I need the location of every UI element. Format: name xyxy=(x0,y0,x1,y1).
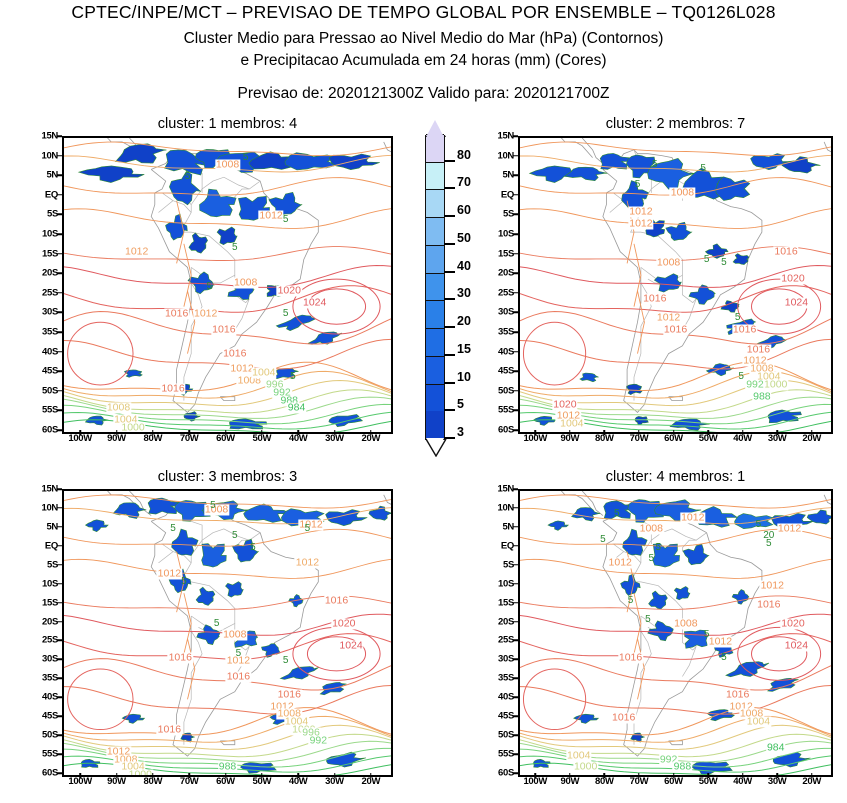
precip-value-label: 5 xyxy=(170,524,176,534)
x-tick-label: 30W xyxy=(768,776,787,787)
x-tick-label: 60W xyxy=(216,433,235,444)
x-tick-label: 100W xyxy=(523,776,547,787)
precipitation-contour-fill xyxy=(621,574,641,595)
coastline xyxy=(384,142,391,330)
y-tick-label: 30S xyxy=(498,654,514,665)
pressure-isobar xyxy=(520,708,831,735)
isobar-label: 1000 xyxy=(573,762,598,773)
precipitation-contour-fill xyxy=(782,157,821,174)
x-tick-label: 50W xyxy=(253,433,272,444)
colorbar-label: 80 xyxy=(457,148,471,162)
isobar-label: 1016 xyxy=(160,383,185,394)
isobar-label: 988 xyxy=(218,762,238,773)
x-tick-label: 80W xyxy=(595,776,614,787)
y-tick-label: 20S xyxy=(498,268,514,279)
isobar-label: 1012 xyxy=(298,520,323,531)
x-tick-label: 30W xyxy=(325,433,344,444)
panel-cluster-3: cluster: 3 membros: 3 100810121012101210… xyxy=(62,489,393,777)
colorbar-label: 5 xyxy=(457,397,464,411)
x-tick-label: 100W xyxy=(68,776,92,787)
country-border xyxy=(235,299,250,330)
isobar-label: 1008 xyxy=(656,258,681,269)
y-tick-label: 5N xyxy=(46,521,58,532)
pressure-isobar xyxy=(520,596,831,610)
y-tick-label: 45S xyxy=(498,366,514,377)
isobar-label: 1012 xyxy=(157,569,182,580)
pressure-isobar xyxy=(520,339,831,369)
colorbar-label: 10 xyxy=(457,370,471,384)
isobar-label: 984 xyxy=(287,403,307,414)
isobar-label: 1016 xyxy=(663,325,688,336)
precip-value-label: 5 xyxy=(628,596,634,606)
y-tick-label: 25S xyxy=(498,635,514,646)
isobar-label: 1016 xyxy=(226,671,251,682)
isobar-label: 1016 xyxy=(611,713,636,724)
colorbar-label: 30 xyxy=(457,286,471,300)
x-tick-label: 50W xyxy=(699,776,718,787)
colorbar-tick xyxy=(444,326,455,328)
precipitation-colorbar: 35101520304050607080 xyxy=(425,135,445,440)
isobar-label: 1008 xyxy=(670,187,695,198)
x-tick-label: 20W xyxy=(802,433,821,444)
colorbar-tick xyxy=(444,215,455,217)
precip-value-label: 5 xyxy=(181,577,187,587)
pressure-isobar xyxy=(64,529,391,546)
y-tick-label: 35S xyxy=(498,673,514,684)
pressure-isobar xyxy=(520,209,831,229)
coastline xyxy=(384,495,391,677)
precip-value-label: 5 xyxy=(207,282,213,292)
coastline xyxy=(582,138,603,164)
y-tick-label: 15N xyxy=(41,484,58,495)
precip-value-label: 5 xyxy=(283,656,289,666)
isobar-label: 1012 xyxy=(680,512,705,523)
y-tick-label: 55S xyxy=(42,749,58,760)
isobar-label: 1024 xyxy=(338,641,363,652)
plot-area-cluster-1: 1008101210121008102010241016101210161016… xyxy=(62,136,393,434)
isobar-label: 1008 xyxy=(639,523,664,534)
isobar-label: 1016 xyxy=(157,724,182,735)
y-tick-label: 60S xyxy=(42,425,58,436)
precip-value-label: 5 xyxy=(614,509,620,519)
precip-value-label: 5 xyxy=(721,653,727,663)
precipitation-contour-fill xyxy=(79,166,145,183)
y-tick-label: 10S xyxy=(498,229,514,240)
precip-value-label: 5 xyxy=(635,180,641,190)
y-tick-label: 5S xyxy=(503,209,514,220)
x-tick-label: 90W xyxy=(107,433,126,444)
colorbar-tick xyxy=(444,298,455,300)
x-tick-label: 60W xyxy=(664,776,683,787)
y-tick-label: 40S xyxy=(42,692,58,703)
coastline xyxy=(548,491,593,510)
pressure-isobar xyxy=(184,593,191,654)
x-tick-label: 40W xyxy=(733,776,752,787)
isobar-label: 984 xyxy=(766,743,786,754)
y-tick-label: 10N xyxy=(497,502,514,513)
precipitation-contour-fill xyxy=(548,521,568,531)
y-tick-label: 55S xyxy=(498,405,514,416)
x-tick-label: 90W xyxy=(107,776,126,787)
pressure-isobar xyxy=(64,559,391,578)
pressure-isobar xyxy=(64,371,391,398)
precipitation-contour-fill xyxy=(202,544,227,568)
precipitation-contour-fill xyxy=(721,301,739,313)
colorbar-label: 3 xyxy=(457,425,464,439)
precip-value-label: 5 xyxy=(214,619,220,629)
isobar-label: 1020 xyxy=(780,618,805,629)
x-tick-label: 40W xyxy=(289,776,308,787)
x-tick-label: 60W xyxy=(216,776,235,787)
precip-value-label: 5 xyxy=(649,554,655,564)
isobar-label: 1004 xyxy=(251,368,276,379)
y-tick-label: 50S xyxy=(42,730,58,741)
x-tick-label: 90W xyxy=(561,776,580,787)
y-tick-label: 20S xyxy=(498,616,514,627)
precipitation-contour-fill xyxy=(635,416,648,424)
y-tick-label: 15N xyxy=(41,131,58,142)
panel-title-cluster-1: cluster: 1 membros: 4 xyxy=(62,116,393,132)
precip-value-label: 5 xyxy=(652,160,658,170)
plot-area-cluster-2: 1008101210121008101610201024101610121016… xyxy=(518,136,833,434)
precip-value-label: 5 xyxy=(305,524,311,534)
precip-value-label: 5 xyxy=(232,243,238,253)
isobar-label: 1004 xyxy=(566,751,591,762)
y-tick-label: 15N xyxy=(497,131,514,142)
y-tick-label: 45S xyxy=(42,366,58,377)
country-border xyxy=(682,646,696,676)
precip-value-label: 5 xyxy=(721,258,727,268)
country-border xyxy=(159,544,174,563)
y-tick-label: 35S xyxy=(42,673,58,684)
x-tick-label: 100W xyxy=(523,433,547,444)
isobar-label: 1016 xyxy=(164,309,189,320)
x-tick-label: 30W xyxy=(325,776,344,787)
precipitation-contour-fill xyxy=(226,582,244,598)
colorbar-extend-low-outline xyxy=(425,438,447,457)
y-tick-label: 45S xyxy=(498,711,514,722)
precip-value-label: 5 xyxy=(236,649,242,659)
isobar-label: 1012 xyxy=(124,246,149,257)
forecast-run-line: Previsao de: 2020121300Z Valido para: 20… xyxy=(0,85,847,103)
y-tick-label: 5S xyxy=(47,559,58,570)
y-tick-label: 15S xyxy=(42,248,58,259)
isobar-label: 1008 xyxy=(106,403,131,414)
pressure-isobar xyxy=(520,142,831,156)
colorbar-cell xyxy=(426,300,444,328)
precip-value-label: 5 xyxy=(766,539,772,549)
colorbar-cell xyxy=(426,273,444,301)
x-tick-label: 40W xyxy=(733,433,752,444)
colorbar-tick xyxy=(444,160,455,162)
plot-area-cluster-4: 1012100810121012101210081016102010241016… xyxy=(518,489,833,777)
y-tick-label: 10N xyxy=(41,502,58,513)
precipitation-contour-fill xyxy=(200,189,237,217)
pressure-isobar xyxy=(64,708,391,735)
isobar-label: 988 xyxy=(752,391,772,402)
isobar-label: 1020 xyxy=(780,274,805,285)
colorbar-cell xyxy=(426,328,444,356)
panel-cluster-4: cluster: 4 membros: 1 101210081012101210… xyxy=(518,489,833,777)
panel-title-cluster-4: cluster: 4 membros: 1 xyxy=(518,469,833,485)
isobar-label: 1016 xyxy=(277,690,302,701)
x-tick-label: 70W xyxy=(180,776,199,787)
colorbar-label: 50 xyxy=(457,231,471,245)
isobar-label: 992 xyxy=(745,379,765,390)
colorbar-tick xyxy=(444,187,455,189)
isobar-label: 1012 xyxy=(295,557,320,568)
y-tick-label: 10N xyxy=(497,150,514,161)
isobar-label: 1012 xyxy=(258,211,283,222)
colorbar-cell xyxy=(426,162,444,190)
precip-value-label: 5 xyxy=(735,313,741,323)
isobar-label: 1024 xyxy=(302,297,327,308)
x-tick-label: 20W xyxy=(802,776,821,787)
y-tick-label: 10S xyxy=(498,578,514,589)
y-tick-label: 15S xyxy=(498,597,514,608)
isobar-label: 1012 xyxy=(708,637,733,648)
y-tick-label: EQ xyxy=(501,189,514,200)
y-tick-label: 60S xyxy=(498,768,514,779)
panel-cluster-2: cluster: 2 membros: 7 100810121012100810… xyxy=(518,136,833,434)
subtitle-line-2: e Precipitacao Acumulada em 24 horas (mm… xyxy=(0,52,847,70)
y-tick-label: 20S xyxy=(42,268,58,279)
pressure-isobar xyxy=(64,362,391,390)
precip-value-label: 5 xyxy=(250,543,256,553)
isobar-label: 1008 xyxy=(673,618,698,629)
isobar-label: 1004 xyxy=(746,716,771,727)
isobar-label: 1008 xyxy=(222,629,247,640)
isobar-label: 1000 xyxy=(763,379,788,390)
precip-value-label: 5 xyxy=(738,372,744,382)
y-tick-label: 35S xyxy=(42,327,58,338)
colorbar-cell xyxy=(426,189,444,217)
precipitation-contour-fill xyxy=(533,416,555,425)
precip-value-label: 5 xyxy=(210,501,216,511)
colorbar-tick xyxy=(444,243,455,245)
colorbar-tick xyxy=(444,354,455,356)
isobar-label: 1024 xyxy=(784,297,809,308)
x-tick-label: 20W xyxy=(362,433,381,444)
y-tick-label: 50S xyxy=(42,385,58,396)
x-tick-label: 20W xyxy=(362,776,381,787)
y-tick-label: EQ xyxy=(45,540,58,551)
precip-value-label: 5 xyxy=(704,255,710,265)
x-tick-label: 90W xyxy=(561,433,580,444)
precipitation-contour-fill xyxy=(683,544,709,565)
y-tick-label: 10S xyxy=(42,578,58,589)
precipitation-contour-fill xyxy=(735,514,773,529)
isobar-label: 1016 xyxy=(324,595,349,606)
isobar-label: 1012 xyxy=(193,309,218,320)
x-tick-label: 80W xyxy=(144,776,163,787)
precip-value-label: 5 xyxy=(243,153,249,163)
colorbar-extend-high-outline xyxy=(426,120,446,137)
y-tick-label: 30S xyxy=(498,307,514,318)
isobar-label: 1012 xyxy=(656,313,681,324)
isobar-label: 1016 xyxy=(222,348,247,359)
y-tick-label: 5N xyxy=(46,170,58,181)
y-tick-label: 5S xyxy=(503,559,514,570)
y-tick-label: 15S xyxy=(42,597,58,608)
y-tick-label: 5N xyxy=(502,521,514,532)
y-tick-label: 35S xyxy=(498,327,514,338)
y-tick-label: 55S xyxy=(498,749,514,760)
colorbar-cell xyxy=(426,134,444,162)
colorbar-cell xyxy=(426,245,444,273)
colorbar-cell xyxy=(426,356,444,384)
precip-value-label: 5 xyxy=(756,520,762,530)
precip-value-label: 5 xyxy=(655,543,661,553)
panel-cluster-1: cluster: 1 membros: 4 100810121012100810… xyxy=(62,136,393,434)
x-tick-label: 40W xyxy=(289,433,308,444)
y-tick-label: 5N xyxy=(502,170,514,181)
isobar-label: 1000 xyxy=(120,423,145,434)
y-tick-label: 60S xyxy=(498,425,514,436)
pressure-isobar xyxy=(634,244,641,307)
x-tick-label: 70W xyxy=(630,433,649,444)
isobar-label: 988 xyxy=(673,762,693,773)
isobar-label: 1012 xyxy=(608,557,633,568)
precipitation-contour-fill xyxy=(580,373,599,382)
y-tick-label: 55S xyxy=(42,405,58,416)
x-tick-label: 100W xyxy=(68,433,92,444)
precipitation-contour-fill xyxy=(726,662,769,677)
y-tick-label: 5S xyxy=(47,209,58,220)
x-tick-label: 70W xyxy=(180,433,199,444)
pressure-isobar xyxy=(64,247,391,261)
y-tick-label: 40S xyxy=(498,692,514,703)
precip-value-label: 5 xyxy=(283,309,289,319)
precipitation-contour-fill xyxy=(733,254,749,265)
country-border xyxy=(634,267,651,400)
precipitation-contour-fill xyxy=(654,274,681,292)
precip-value-label: 5 xyxy=(600,535,606,545)
colorbar-tick xyxy=(444,271,455,273)
country-border xyxy=(634,616,651,745)
y-tick-label: 50S xyxy=(498,385,514,396)
colorbar-tick xyxy=(444,409,455,411)
coastline xyxy=(548,138,593,158)
isobar-label: 1016 xyxy=(211,325,236,336)
y-tick-label: 30S xyxy=(42,654,58,665)
isobar-label: 1016 xyxy=(773,246,798,257)
isobar-label: 1024 xyxy=(784,641,809,652)
colorbar-label: 60 xyxy=(457,203,471,217)
pressure-isobar xyxy=(520,716,831,742)
plot-area-cluster-3: 1008101210121012100810161020102410161012… xyxy=(62,489,393,777)
y-tick-label: 40S xyxy=(42,346,58,357)
x-tick-label: 80W xyxy=(144,433,163,444)
x-tick-label: 60W xyxy=(664,433,683,444)
y-tick-label: 40S xyxy=(498,346,514,357)
precipitation-contour-fill xyxy=(329,154,380,170)
colorbar-label: 15 xyxy=(457,342,471,356)
precip-value-label: 5 xyxy=(704,630,710,640)
isobar-label: 1016 xyxy=(618,652,643,663)
precip-value-label: 5 xyxy=(185,172,191,182)
y-tick-label: 25S xyxy=(42,635,58,646)
x-tick-label: 50W xyxy=(699,433,718,444)
precipitation-contour-fill xyxy=(565,167,608,181)
precip-value-label: 5 xyxy=(645,615,651,625)
pressure-isobar xyxy=(520,686,831,715)
colorbar-tick xyxy=(444,382,455,384)
isobar-label: 1016 xyxy=(732,325,757,336)
precip-value-label: 5 xyxy=(283,215,289,225)
x-tick-label: 70W xyxy=(630,776,649,787)
precipitation-contour-fill xyxy=(329,414,363,426)
precip-value-label: 5 xyxy=(290,372,296,382)
x-tick-label: 30W xyxy=(768,433,787,444)
country-border xyxy=(159,193,174,213)
isobar-label: 992 xyxy=(309,735,329,746)
y-tick-label: 30S xyxy=(42,307,58,318)
country-border xyxy=(610,193,624,213)
isobar-label: 1008 xyxy=(233,278,258,289)
y-tick-label: 25S xyxy=(42,287,58,298)
panel-title-cluster-3: cluster: 3 membros: 3 xyxy=(62,469,393,485)
page-title: CPTEC/INPE/MCT – PREVISAO DE TEMPO GLOBA… xyxy=(0,2,847,23)
isobar-label: 1012 xyxy=(760,580,785,591)
isobar-label: 1008 xyxy=(204,504,229,515)
subtitle-line-1: Cluster Medio para Pressao ao Nivel Medi… xyxy=(0,30,847,48)
precip-value-label: 5 xyxy=(232,531,238,541)
isobar-label: 1020 xyxy=(552,399,577,410)
isobar-label: 1012 xyxy=(628,219,653,230)
y-tick-label: EQ xyxy=(45,189,58,200)
colorbar-cell xyxy=(426,411,444,439)
precipitation-contour-fill xyxy=(649,591,668,609)
precipitation-contour-fill xyxy=(196,587,215,605)
map-canvas xyxy=(64,138,391,432)
precip-value-label: 5 xyxy=(700,164,706,174)
isobar-label: 1012 xyxy=(777,523,802,534)
colorbar-label: 40 xyxy=(457,259,471,273)
isobar-label: 1016 xyxy=(642,293,667,304)
colorbar-label: 70 xyxy=(457,175,471,189)
y-tick-label: 10N xyxy=(41,150,58,161)
x-tick-label: 80W xyxy=(595,433,614,444)
panel-title-cluster-2: cluster: 2 membros: 7 xyxy=(518,116,833,132)
isobar-label: 1004 xyxy=(559,419,584,430)
pressure-isobar xyxy=(64,716,391,742)
y-tick-label: EQ xyxy=(501,540,514,551)
colorbar-cell xyxy=(426,217,444,245)
precipitation-contour-fill xyxy=(732,590,749,605)
x-tick-label: 50W xyxy=(253,776,272,787)
isobar-label: 1016 xyxy=(725,690,750,701)
isobar-label: 1012 xyxy=(628,207,653,218)
y-tick-label: 60S xyxy=(42,768,58,779)
colorbar-label: 20 xyxy=(457,314,471,328)
precipitation-contour-fill xyxy=(148,498,179,514)
y-tick-label: 25S xyxy=(498,287,514,298)
precipitation-contour-fill xyxy=(166,214,188,240)
coastline xyxy=(824,142,831,330)
precipitation-contour-fill xyxy=(189,233,208,253)
isobar-label: 1016 xyxy=(168,652,193,663)
y-tick-label: 10S xyxy=(42,229,58,240)
pressure-isobar xyxy=(64,266,391,288)
pressure-isobar xyxy=(184,244,191,307)
colorbar-cell xyxy=(426,384,444,412)
y-tick-label: 45S xyxy=(42,711,58,722)
isobar-label: 1008 xyxy=(215,160,240,171)
isobar-label: 1020 xyxy=(331,618,356,629)
y-tick-label: 15S xyxy=(498,248,514,259)
y-tick-label: 20S xyxy=(42,616,58,627)
